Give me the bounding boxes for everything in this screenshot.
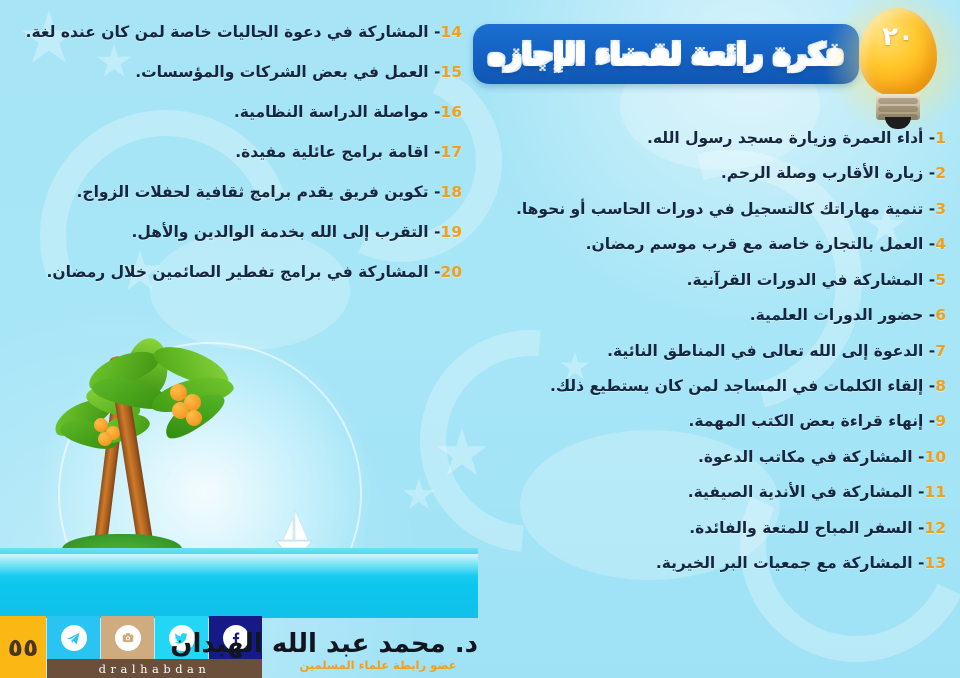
page-title: فكرة رائعة لقضاء الإجازه: [488, 37, 844, 71]
list-item-number: 14: [440, 23, 462, 41]
list-item-text: الدعوة إلى الله تعالى في المناطق النائية…: [607, 342, 923, 360]
list-item-dash: -: [429, 63, 441, 81]
list-item-dash: -: [923, 412, 935, 430]
telegram-icon[interactable]: [61, 625, 87, 651]
lightbulb-ring: [878, 98, 918, 104]
list-item-number: 16: [440, 103, 462, 121]
coconut: [186, 410, 202, 426]
list-item-number: 13: [924, 554, 946, 572]
list-item-text: المشاركة في دعوة الجاليات خاصة لمن كان ع…: [26, 23, 429, 41]
list-item-text: المشاركة في مكاتب الدعوة.: [698, 448, 913, 466]
list-item-number: 12: [924, 519, 946, 537]
list-item-dash: -: [429, 183, 441, 201]
list-item-text: إلقاء الكلمات في المساجد لمن كان يستطيع …: [550, 377, 923, 395]
list-item-text: السفر المباح للمتعة والفائدة.: [689, 519, 912, 537]
list-item: 11- المشاركة في الأندية الصيفية.: [470, 482, 946, 503]
list-item-dash: -: [913, 448, 925, 466]
list-item-number: 18: [440, 183, 462, 201]
list-item: 18- تكوين فريق يقدم برامج ثقافية لحفلات …: [6, 182, 462, 203]
issue-number-badge: ٥٥: [0, 616, 46, 678]
author-name: د. محمد عبد الله الهبدان: [278, 631, 478, 657]
list-item-dash: -: [923, 342, 935, 360]
list-item-number: 7: [935, 342, 946, 360]
list-item: 9- إنهاء قراءة بعض الكتب المهمة.: [470, 411, 946, 432]
list-item-number: 10: [924, 448, 946, 466]
list-item: 14- المشاركة في دعوة الجاليات خاصة لمن ك…: [6, 22, 462, 43]
snapchat-icon[interactable]: [115, 625, 141, 651]
list-item-number: 5: [935, 271, 946, 289]
list-item-dash: -: [429, 23, 441, 41]
list-item-dash: -: [429, 263, 441, 281]
list-item: 15- العمل في بعض الشركات والمؤسسات.: [6, 62, 462, 83]
list-item-text: حضور الدورات العلمية.: [750, 306, 924, 324]
list-item: 20- المشاركة في برامج تفطير الصائمين خلا…: [6, 262, 462, 283]
list-item-number: 9: [935, 412, 946, 430]
list-item-text: العمل بالتجارة خاصة مع قرب موسم رمضان.: [586, 235, 924, 253]
beach-illustration: [0, 318, 478, 618]
coconut: [98, 432, 112, 446]
list-item-dash: -: [429, 223, 441, 241]
lightbulb-number: ٢٠: [859, 22, 937, 52]
list-item: 6- حضور الدورات العلمية.: [470, 305, 946, 326]
list-item-dash: -: [429, 103, 441, 121]
list-item-number: 11: [924, 483, 946, 501]
poster-canvas: فكرة رائعة لقضاء الإجازه ٢٠ 1- أداء العم…: [0, 0, 960, 678]
list-item: 1- أداء العمرة وزيارة مسجد رسول الله.: [470, 128, 946, 149]
idea-list-right: 1- أداء العمرة وزيارة مسجد رسول الله. 2-…: [470, 128, 946, 588]
list-item: 13- المشاركة مع جمعيات البر الخيرية.: [470, 553, 946, 574]
list-item-number: 4: [935, 235, 946, 253]
list-item-dash: -: [923, 200, 935, 218]
list-item-number: 20: [440, 263, 462, 281]
list-item: 5- المشاركة في الدورات القرآنية.: [470, 270, 946, 291]
list-item: 3- تنمية مهاراتك كالتسجيل في دورات الحاس…: [470, 199, 946, 220]
list-item-dash: -: [923, 306, 935, 324]
list-item-number: 6: [935, 306, 946, 324]
list-item-text: اقامة برامج عائلية مفيدة.: [235, 143, 428, 161]
list-item-text: المشاركة في الأندية الصيفية.: [688, 483, 913, 501]
lightbulb-icon: ٢٠: [845, 4, 951, 130]
list-item: 10- المشاركة في مكاتب الدعوة.: [470, 447, 946, 468]
list-item-number: 15: [440, 63, 462, 81]
social-tile-snapchat[interactable]: [101, 616, 154, 660]
ocean-shine: [0, 554, 478, 576]
list-item-text: المشاركة في الدورات القرآنية.: [687, 271, 924, 289]
list-item-number: 17: [440, 143, 462, 161]
list-item-text: زيارة الأقارب وصلة الرحم.: [721, 164, 923, 182]
list-item-text: المشاركة في برامج تفطير الصائمين خلال رم…: [46, 263, 428, 281]
list-item-number: 2: [935, 164, 946, 182]
list-item: 8- إلقاء الكلمات في المساجد لمن كان يستط…: [470, 376, 946, 397]
list-item-text: المشاركة مع جمعيات البر الخيرية.: [656, 554, 913, 572]
list-item-text: إنهاء قراءة بعض الكتب المهمة.: [688, 412, 923, 430]
list-item: 2- زيارة الأقارب وصلة الرحم.: [470, 163, 946, 184]
lightbulb-ring: [878, 106, 918, 112]
list-item: 17- اقامة برامج عائلية مفيدة.: [6, 142, 462, 163]
list-item-text: مواصلة الدراسة النظامية.: [234, 103, 429, 121]
issue-number: ٥٥: [8, 633, 39, 662]
page-title-bar: فكرة رائعة لقضاء الإجازه: [473, 24, 859, 84]
list-item-dash: -: [913, 483, 925, 501]
list-item-dash: -: [913, 554, 925, 572]
list-item-number: 8: [935, 377, 946, 395]
list-item-dash: -: [429, 143, 441, 161]
list-item: 19- التقرب إلى الله بخدمة الوالدين والأه…: [6, 222, 462, 243]
list-item: 7- الدعوة إلى الله تعالى في المناطق النا…: [470, 341, 946, 362]
list-item-text: تكوين فريق يقدم برامج ثقافية لحفلات الزو…: [77, 183, 429, 201]
idea-list-left: 14- المشاركة في دعوة الجاليات خاصة لمن ك…: [6, 22, 462, 301]
list-item-dash: -: [923, 164, 935, 182]
list-item-number: 19: [440, 223, 462, 241]
author-affiliation: عضو رابطة علماء المسلمين: [278, 658, 478, 672]
list-item: 12- السفر المباح للمتعة والفائدة.: [470, 518, 946, 539]
list-item-text: التقرب إلى الله بخدمة الوالدين والأهل.: [131, 223, 428, 241]
author-signature: د. محمد عبد الله الهبدان عضو رابطة علماء…: [278, 631, 478, 672]
list-item-number: 1: [935, 129, 946, 147]
list-item: 16- مواصلة الدراسة النظامية.: [6, 102, 462, 123]
list-item-text: تنمية مهاراتك كالتسجيل في دورات الحاسب أ…: [516, 200, 923, 218]
footer-bar: ٥٥ dralhabdan د. محمد عبد الله الهبدان: [0, 616, 960, 678]
list-item-dash: -: [923, 235, 935, 253]
list-item-number: 3: [935, 200, 946, 218]
list-item-dash: -: [923, 271, 935, 289]
social-handle[interactable]: dralhabdan: [47, 659, 262, 678]
list-item-dash: -: [923, 377, 935, 395]
list-item-dash: -: [913, 519, 925, 537]
list-item: 4- العمل بالتجارة خاصة مع قرب موسم رمضان…: [470, 234, 946, 255]
list-item-text: العمل في بعض الشركات والمؤسسات.: [135, 63, 428, 81]
list-item-text: أداء العمرة وزيارة مسجد رسول الله.: [647, 129, 923, 147]
list-item-dash: -: [923, 129, 935, 147]
social-tile-telegram[interactable]: [47, 616, 100, 660]
